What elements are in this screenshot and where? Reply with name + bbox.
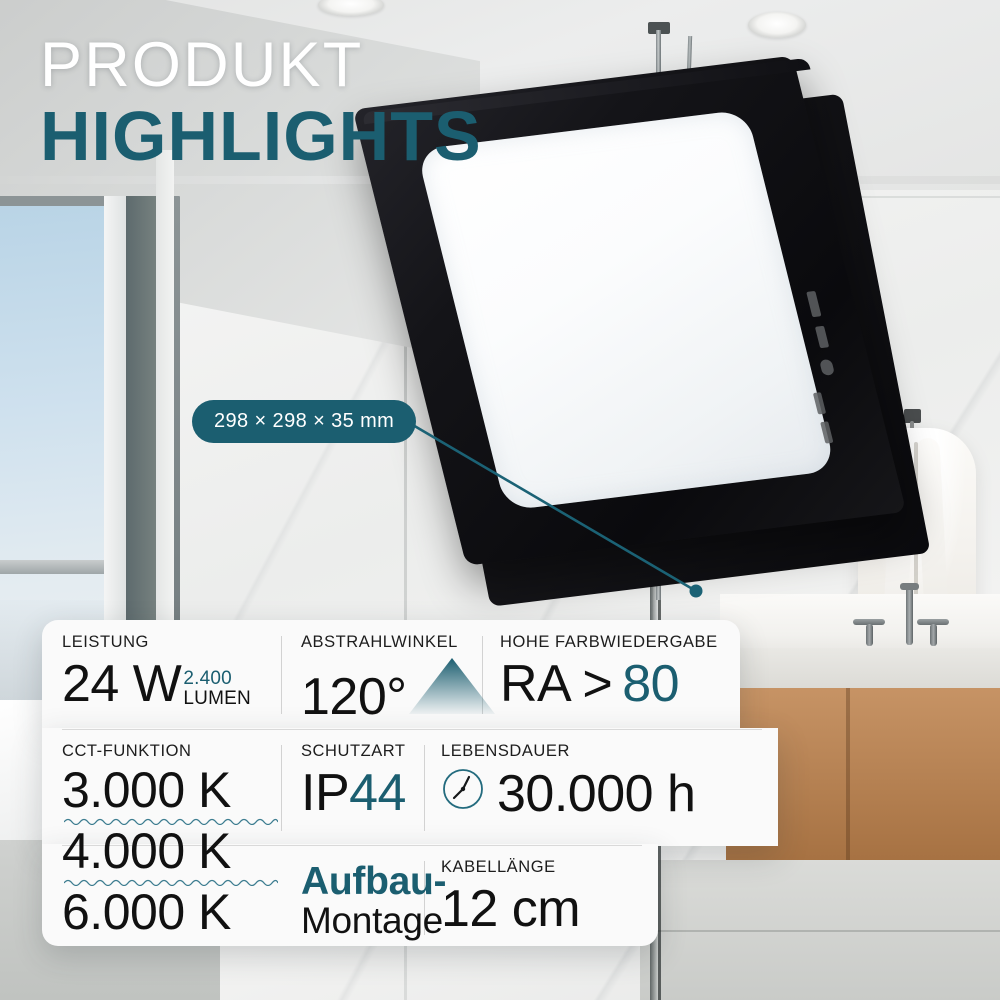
spec-montage: Aufbau- Montage [301,862,446,941]
spec-ip-prefix: IP [301,764,349,822]
spec-farbwiedergabe-label: HOHE FARBWIEDERGABE [500,633,718,652]
faucet-spout [900,583,919,590]
page-title: PRODUKT HIGHLIGHTS [40,34,482,175]
faucet-handle-right [930,624,937,646]
counter-front [720,648,1000,688]
floor-tile-line [640,930,1000,932]
spec-kabellaenge-label: KABELLÄNGE [441,858,580,877]
spec-montage-line-1: Aufbau- [301,862,446,902]
spec-lebensdauer: LEBENSDAUER 30.000 h [441,742,695,820]
spec-abstrahlwinkel-value-group: 120° [301,658,495,723]
spec-schutzart-value-group: IP44 [301,767,406,819]
spec-cct: CCT-FUNKTION 3.000 K 4.000 K 6.000 K [62,742,278,938]
spec-kabellaenge-value: 12 cm [441,883,580,935]
spec-leistung: LEISTUNG 24 W 2.400 LUMEN [62,633,251,710]
spec-schutzart-label: SCHUTZART [301,742,406,761]
spec-lebensdauer-value: 30.000 h [497,768,695,820]
spec-farbwiedergabe: HOHE FARBWIEDERGABE RA >80 [500,633,718,710]
spec-kabellaenge: KABELLÄNGE 12 cm [441,858,580,935]
spec-abstrahlwinkel-label: ABSTRAHLWINKEL [301,633,495,652]
vent-slot-icon [806,291,821,317]
spec-lebensdauer-label: LEBENSDAUER [441,742,695,761]
title-line-2: HIGHLIGHTS [40,99,482,175]
card-divider-1 [62,729,762,730]
faucet-handle-left [866,624,873,646]
card-vdivider-4 [424,745,425,831]
spec-ra-prefix: RA > [500,655,612,713]
spec-leistung-value: 24 W [62,658,181,710]
spec-abstrahlwinkel-value: 120° [301,671,407,723]
spec-cct-label: CCT-FUNKTION [62,742,278,761]
spec-ra-value: 80 [622,655,679,713]
spec-abstrahlwinkel: ABSTRAHLWINKEL 120° [301,633,495,723]
ceiling-spotlight-icon [748,12,806,38]
spec-leistung-label: LEISTUNG [62,633,251,652]
spec-cct-value-3: 6.000 K [62,887,278,938]
spec-lumen-number: 2.400 [183,669,251,690]
spec-lumen-unit: LUMEN [183,689,251,710]
beam-angle-triangle-icon [409,658,495,723]
card-vdivider-1 [281,636,282,714]
clock-icon [441,767,485,820]
card-vdivider-3 [281,745,282,831]
spec-leistung-value-group: 24 W 2.400 LUMEN [62,658,251,710]
spec-farbwiedergabe-value-group: RA >80 [500,658,718,710]
spec-cct-value-1: 3.000 K [62,765,278,816]
vent-slot-icon [819,359,835,376]
dimension-badge: 298 × 298 × 35 mm [192,400,416,443]
window-mullion [0,560,118,574]
spec-montage-line-2: Montage [301,902,446,941]
spec-schutzart: SCHUTZART IP44 [301,742,406,819]
faucet-icon [906,587,913,645]
vent-slot-icon [815,326,829,348]
spec-cct-value-2: 4.000 K [62,826,278,877]
product-highlight-banner: PRODUKT HIGHLIGHTS 298 × 298 × 35 mm LEI… [0,0,1000,1000]
spec-lebensdauer-value-group: 30.000 h [441,767,695,820]
spec-leistung-lumen: 2.400 LUMEN [183,669,251,710]
title-line-1: PRODUKT [40,34,482,97]
spec-ip-value: 44 [349,764,406,822]
